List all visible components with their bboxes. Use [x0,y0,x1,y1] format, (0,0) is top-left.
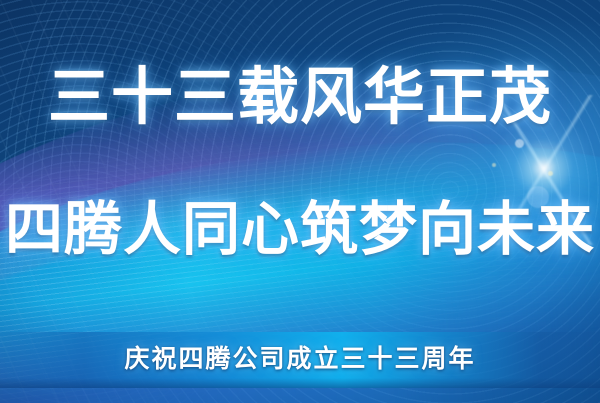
headline-line-2: 四腾人同心筑梦向未来 [0,190,600,270]
headline-line-1: 三十三载风华正茂 [0,58,600,138]
anniversary-poster: 三十三载风华正茂 四腾人同心筑梦向未来 庆祝四腾公司成立三十三周年 [0,0,600,403]
subtitle-text: 庆祝四腾公司成立三十三周年 [0,339,600,381]
